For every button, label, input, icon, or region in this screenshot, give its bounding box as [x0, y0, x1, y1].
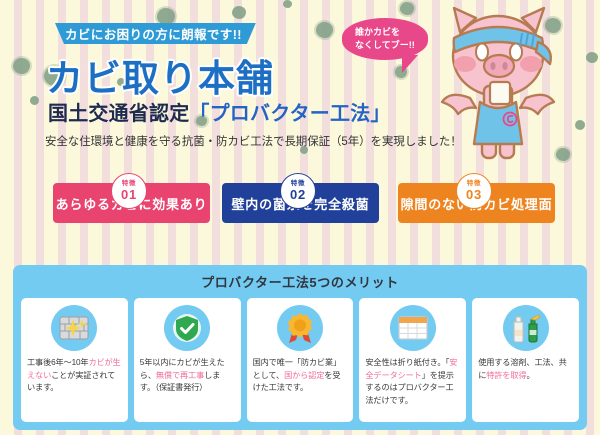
subtitle-prefix: 国土交通省認定	[48, 103, 189, 125]
text-segment-highlight: 無償で再工事	[156, 371, 204, 380]
brick-wall-sparkle-icon	[51, 305, 97, 351]
shield-check-icon	[164, 305, 210, 351]
text-segment: 安全性は折り紙付き。「	[365, 358, 449, 367]
spore-icon	[400, 2, 414, 15]
merit-card[interactable]: 使用する溶剤、工法、共に特許を取得。	[472, 298, 579, 422]
speech-line-2: なくしてブー!!	[355, 39, 428, 52]
merits-panel: プロバクター工法5つのメリット	[13, 265, 587, 430]
text-segment-highlight: 国から認定	[284, 371, 324, 380]
subtitle-highlight: 「プロバクター工法」	[189, 103, 390, 125]
merit-card-text: 安全性は折り紙付き。「安全データシート」を提示するのはプロバクター工法だけです。	[365, 357, 460, 408]
feature-box-02[interactable]: 特徴 02 壁内の菌糸を完全殺菌	[222, 183, 379, 223]
merit-card[interactable]: 安全性は折り紙付き。「安全データシート」を提示するのはプロバクター工法だけです。	[359, 298, 466, 422]
announcement-ribbon: カビにお困りの方に朗報です!!	[55, 23, 256, 44]
merit-card[interactable]: 国内で唯一「防カビ業」として、国から認定を受けた工法です。	[247, 298, 354, 422]
text-segment-highlight: 特許を取得	[486, 371, 526, 380]
feature-badge-01: 特徴 01	[111, 173, 147, 209]
spore-icon	[586, 52, 598, 63]
cheek-left	[454, 56, 476, 72]
merit-card-text: 国内で唯一「防カビ業」として、国から認定を受けた工法です。	[253, 357, 348, 395]
badge-number: 01	[121, 188, 137, 201]
merit-card-text: 使用する溶剤、工法、共に特許を取得。	[478, 357, 573, 382]
merit-card[interactable]: 5年以内にカビが生えたら、無償で再工事します。（保証書発行）	[134, 298, 241, 422]
badge-number: 03	[466, 188, 482, 201]
spore-icon	[283, 0, 292, 8]
feature-badge-03: 特徴 03	[456, 173, 492, 209]
mascot-speech-bubble: 誰かカビを なくしてブー!!	[342, 18, 428, 60]
merit-card-text: 5年以内にカビが生えたら、無償で再工事します。（保証書発行）	[140, 357, 235, 395]
feature-box-01[interactable]: 特徴 01 あらゆるカビに効果あり	[53, 183, 210, 223]
merits-title: プロバクター工法5つのメリット	[13, 265, 587, 298]
spore-icon	[157, 8, 175, 25]
text-segment: 。	[526, 371, 534, 380]
pig-mascot-illustration	[432, 2, 582, 174]
spore-icon	[30, 96, 39, 105]
cleaning-bottles-icon	[503, 305, 549, 351]
lead-text: 安全な住環境と健康を守る抗菌・防カビ工法で長期保証（5年）を実現しました！	[45, 133, 462, 149]
subtitle: 国土交通省認定「プロバクター工法」	[48, 97, 391, 126]
spore-icon	[232, 6, 246, 19]
badge-number: 02	[290, 188, 306, 201]
merit-card-text: 工事後6年～10年カビが生えないことが実証されています。	[27, 357, 122, 395]
merit-card[interactable]: 工事後6年～10年カビが生えないことが実証されています。	[21, 298, 128, 422]
spore-icon	[316, 22, 333, 38]
page-title: カビ取り本舗	[46, 48, 274, 102]
text-segment: 工事後6年～10年	[27, 358, 88, 367]
feature-badge-02: 特徴 02	[280, 173, 316, 209]
spreadsheet-icon	[390, 305, 436, 351]
page-root: カビにお困りの方に朗報です!! カビ取り本舗 国土交通省認定「プロバクター工法」…	[0, 0, 600, 435]
award-medal-icon	[277, 305, 323, 351]
feature-box-03[interactable]: 特徴 03 隙間のない防カビ処理面	[398, 183, 555, 223]
cheek-right	[520, 56, 542, 72]
merit-cards: 工事後6年～10年カビが生えないことが実証されています。 5年以内にカビが生えた…	[13, 298, 587, 422]
speech-line-1: 誰かカビを	[355, 26, 428, 39]
feature-boxes: 特徴 01 あらゆるカビに効果あり 特徴 02 壁内の菌糸を完全殺菌 特徴 03…	[0, 171, 600, 233]
spore-icon	[13, 58, 30, 74]
